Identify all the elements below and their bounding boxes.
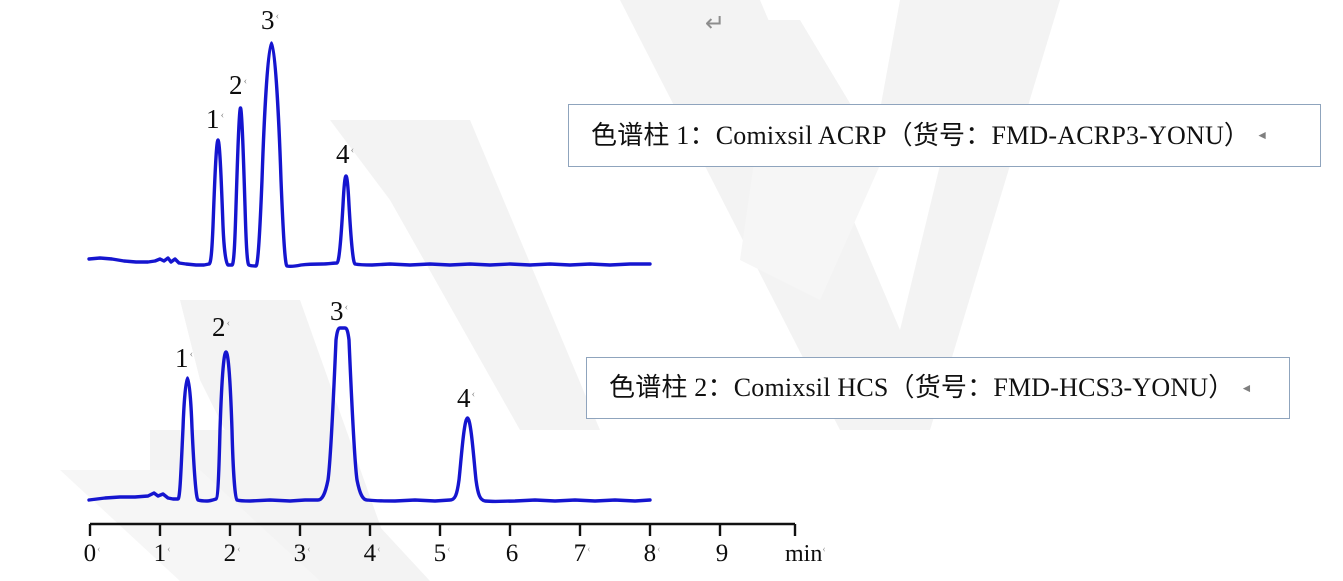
axis-tick-text: 5 xyxy=(434,540,447,567)
tick-mark-icon: ‹ xyxy=(237,544,240,555)
axis-tick-text: 8 xyxy=(644,540,657,567)
peak-label-trace1-1: 1‹ xyxy=(206,106,224,133)
peak-label-trace2-2: 2‹ xyxy=(212,314,230,341)
peak-label-text: 1 xyxy=(206,104,220,134)
tick-mark-icon: ‹ xyxy=(377,544,380,555)
axis-tick-label-1: 1‹ xyxy=(154,541,171,566)
axis-tick-label-3: 3‹ xyxy=(294,541,311,566)
tick-mark-icon: ‹ xyxy=(276,10,280,22)
tick-mark-icon: ‹ xyxy=(345,301,349,313)
tick-mark-icon: ‹ xyxy=(351,144,355,156)
peak-label-text: 2 xyxy=(229,70,243,100)
axis-tick-text: 1 xyxy=(154,540,167,567)
peak-label-text: 1 xyxy=(175,343,189,373)
tick-mark-icon: ‹ xyxy=(307,544,310,555)
tick-mark-icon: ‹ xyxy=(472,388,476,400)
caption-box-column-1[interactable]: 色谱柱 1：Comixsil ACRP（货号：FMD-ACRP3-YONU） ◄ xyxy=(568,104,1321,167)
axis-tick-label-0: 0‹ xyxy=(84,541,101,566)
caption-text-column-2: 色谱柱 2：Comixsil HCS（货号：FMD-HCS3-YONU） xyxy=(587,373,1235,403)
peak-label-trace1-2: 2‹ xyxy=(229,72,247,99)
caption-box-column-2[interactable]: 色谱柱 2：Comixsil HCS（货号：FMD-HCS3-YONU） ◄ xyxy=(586,357,1290,419)
axis-tick-text: 2 xyxy=(224,540,237,567)
chromatogram-figure: 1‹ 2‹ 3‹ 4‹ 1‹ 2‹ 3‹ 4‹ 0‹ 1‹ 2‹ 3‹ 4‹ 5… xyxy=(0,0,1343,581)
tick-mark-icon: ‹ xyxy=(97,544,100,555)
axis-tick-text: 9 xyxy=(716,540,729,567)
paragraph-return-icon: ↵ xyxy=(705,9,725,37)
peak-label-trace2-4: 4‹ xyxy=(457,385,475,412)
peak-label-text: 2 xyxy=(212,312,226,342)
axis-tick-text: 7 xyxy=(574,540,587,567)
axis-tick-text: 3 xyxy=(294,540,307,567)
caption-text-column-1: 色谱柱 1：Comixsil ACRP（货号：FMD-ACRP3-YONU） xyxy=(569,121,1250,151)
tick-mark-icon: ‹ xyxy=(167,544,170,555)
axis-tick-text: 6 xyxy=(506,540,519,567)
axis-tick-label-8: 8‹ xyxy=(644,541,661,566)
axis-tick-label-6: 6 xyxy=(506,541,519,566)
peak-label-trace1-4: 4‹ xyxy=(336,141,354,168)
tick-mark-icon: ‹ xyxy=(190,348,194,360)
peak-label-text: 4 xyxy=(457,383,471,413)
peak-label-text: 4 xyxy=(336,139,350,169)
peak-label-trace2-3: 3‹ xyxy=(330,298,348,325)
tick-mark-icon: ‹ xyxy=(657,544,660,555)
x-axis xyxy=(90,524,795,536)
peak-label-text: 3 xyxy=(261,5,275,35)
axis-tick-text: 0 xyxy=(84,540,97,567)
tick-mark-icon: ‹ xyxy=(587,544,590,555)
chromatogram-plot xyxy=(0,0,1343,581)
axis-tick-label-9: 9 xyxy=(716,541,729,566)
axis-unit-text: min xyxy=(785,541,822,567)
tick-mark-icon: ‹ xyxy=(227,317,231,329)
axis-tick-label-2: 2‹ xyxy=(224,541,241,566)
axis-tick-label-4: 4‹ xyxy=(364,541,381,566)
tick-mark-icon: ‹ xyxy=(221,109,225,121)
tick-mark-icon: ‹ xyxy=(447,544,450,555)
trace-1-curve xyxy=(89,43,650,266)
peak-label-trace2-1: 1‹ xyxy=(175,345,193,372)
peak-label-trace1-3: 3‹ xyxy=(261,7,279,34)
tick-mark-icon: ‹ xyxy=(822,544,825,555)
peak-label-text: 3 xyxy=(330,296,344,326)
tick-mark-icon: ‹ xyxy=(244,75,248,87)
axis-tick-label-5: 5‹ xyxy=(434,541,451,566)
trace-2-curve xyxy=(89,328,650,501)
tick-mark-icon: ◄ xyxy=(1241,381,1253,396)
axis-unit-label: min‹ xyxy=(785,542,826,566)
axis-tick-label-7: 7‹ xyxy=(574,541,591,566)
tick-mark-icon: ◄ xyxy=(1256,128,1268,143)
axis-tick-text: 4 xyxy=(364,540,377,567)
